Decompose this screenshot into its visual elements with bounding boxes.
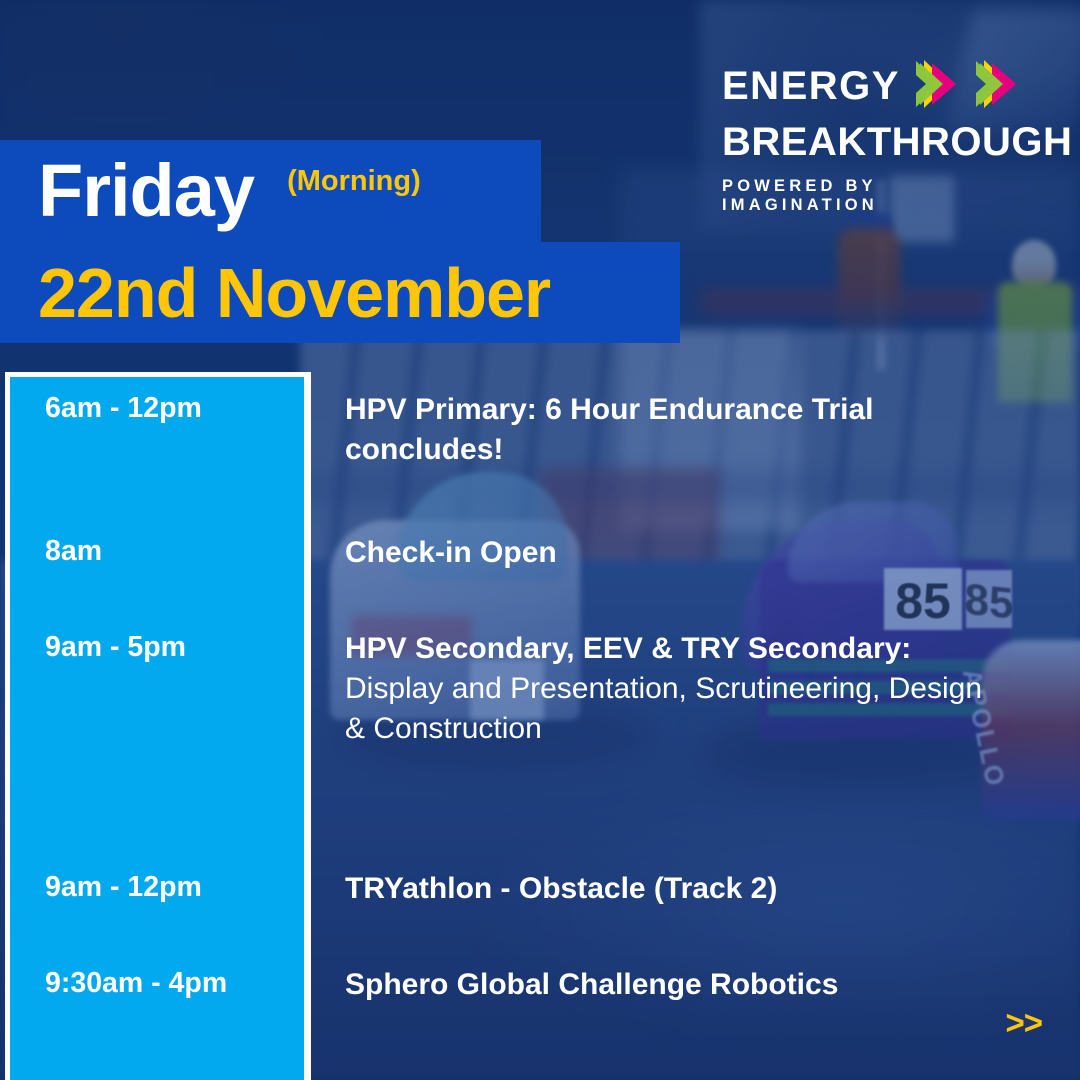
schedule-event-3-bold: HPV Secondary, EEV & TRY Secondary: xyxy=(345,632,911,665)
day-banner: Friday (Morning) xyxy=(0,140,541,242)
schedule-time-1: 6am - 12pm xyxy=(45,392,202,425)
schedule-time-4: 9am - 12pm xyxy=(45,871,202,904)
schedule-event-1-bold: HPV Primary: 6 Hour Endurance Trial conc… xyxy=(345,393,874,466)
logo-tagline: POWERED BY IMAGINATION xyxy=(722,177,1022,215)
schedule-event-2: Check-in Open xyxy=(345,533,995,573)
schedule-event-3: HPV Secondary, EEV & TRY Secondary: Disp… xyxy=(345,629,995,749)
schedule-time-2: 8am xyxy=(45,535,102,568)
period-label: (Morning) xyxy=(287,165,421,198)
next-page-chevrons-icon[interactable]: >> xyxy=(1005,1004,1042,1042)
schedule-time-3: 9am - 5pm xyxy=(45,631,186,664)
schedule-event-3-rest: Display and Presentation, Scrutineering,… xyxy=(345,672,982,745)
schedule-event-1: HPV Primary: 6 Hour Endurance Trial conc… xyxy=(345,390,995,470)
schedule-event-4-bold: TRYathlon - Obstacle (Track 2) xyxy=(345,872,777,905)
logo-chevrons-icon xyxy=(910,55,1028,113)
schedule-time-5: 9:30am - 4pm xyxy=(45,967,227,1000)
logo-word-breakthrough: BREAKTHROUGH xyxy=(722,120,1022,164)
schedule-event-5-bold: Sphero Global Challenge Robotics xyxy=(345,968,838,1001)
schedule-event-4: TRYathlon - Obstacle (Track 2) xyxy=(345,869,995,909)
schedule-event-5: Sphero Global Challenge Robotics xyxy=(345,965,995,1005)
schedule-event-2-bold: Check-in Open xyxy=(345,536,557,569)
day-label: Friday xyxy=(38,154,254,228)
date-label: 22nd November xyxy=(38,258,550,328)
date-banner: 22nd November xyxy=(0,242,680,343)
logo-word-energy: ENERGY xyxy=(722,66,900,106)
energy-breakthrough-logo: ENERGY BREAKTHROUGH POWERED BY IMAGINATI… xyxy=(722,55,1022,215)
